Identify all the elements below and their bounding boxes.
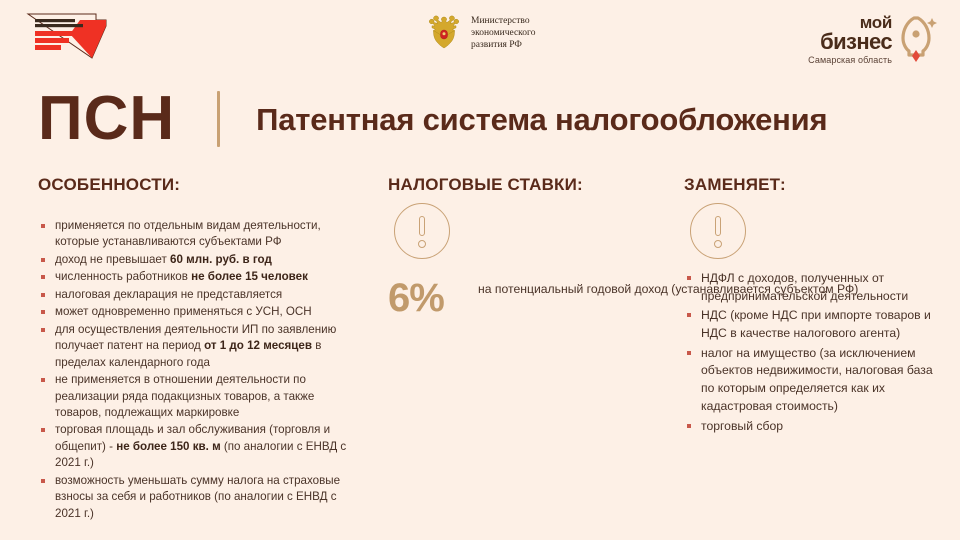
title-divider — [217, 91, 220, 147]
national-projects-logo-icon — [26, 12, 118, 64]
exclamation-dot — [418, 240, 426, 248]
features-list: применяется по отдельным видам деятельно… — [38, 218, 358, 523]
list-item-text: налоговая декларация не представляется — [55, 288, 282, 301]
list-item: НДС (кроме НДС при импорте товаров и НДС… — [684, 307, 934, 342]
list-item-text: численность работников — [55, 270, 191, 283]
exclamation-bar — [715, 216, 721, 236]
tax-rate-value: 6% — [388, 278, 478, 318]
title-abbreviation: ПСН — [38, 88, 175, 150]
list-item-text: налог на имущество (за исключением объек… — [701, 346, 933, 413]
list-item-emphasis: от 1 до 12 месяцев — [204, 339, 312, 352]
exclamation-circle-icon — [394, 203, 450, 259]
exclamation-bar — [419, 216, 425, 236]
ministry-name: Министерство экономического развития РФ — [471, 15, 535, 51]
exclamation-dot — [714, 240, 722, 248]
my-business-region: Самарская область — [808, 55, 892, 65]
list-item-text: может одновременно применяться с УСН, ОС… — [55, 305, 312, 318]
my-business-logo: мой бизнес Самарская область — [808, 12, 938, 65]
replaces-heading: ЗАМЕНЯЕТ: — [684, 175, 786, 195]
my-business-word-main: бизнес — [808, 30, 892, 53]
list-item: может одновременно применяться с УСН, ОС… — [38, 304, 358, 320]
features-heading: ОСОБЕННОСТИ: — [38, 175, 180, 195]
national-projects-logo — [26, 12, 118, 64]
list-item-text: возможность уменьшать сумму налога на ст… — [55, 474, 340, 520]
list-item-text: НДФЛ с доходов, полученных от предприним… — [701, 271, 908, 303]
list-item: торговый сбор — [684, 418, 934, 436]
page-title: ПСН Патентная система налогообложения — [38, 84, 827, 154]
title-full: Патентная система налогообложения — [256, 104, 827, 135]
slide-root: Министерство экономического развития РФ … — [0, 0, 960, 540]
list-item-text: доход не превышает — [55, 253, 170, 266]
list-item-text: НДС (кроме НДС при импорте товаров и НДС… — [701, 308, 931, 340]
list-item: налог на имущество (за исключением объек… — [684, 345, 934, 416]
list-item: налоговая декларация не представляется — [38, 287, 358, 303]
list-item-text: не применяется в отношении деятельности … — [55, 373, 314, 419]
list-item: применяется по отдельным видам деятельно… — [38, 218, 358, 251]
list-item: торговая площадь и зал обслуживания (тор… — [38, 422, 358, 471]
russian-coat-of-arms-icon — [424, 13, 464, 53]
my-business-wordmark: мой бизнес Самарская область — [808, 12, 892, 65]
rates-heading: НАЛОГОВЫЕ СТАВКИ: — [388, 175, 583, 195]
list-item-text: торговый сбор — [701, 419, 783, 433]
list-item: доход не превышает 60 млн. руб. в год — [38, 252, 358, 268]
list-item: для осуществления деятельности ИП по зая… — [38, 322, 358, 371]
exclamation-circle-icon — [690, 203, 746, 259]
list-item-text: применяется по отдельным видам деятельно… — [55, 219, 321, 248]
ministry-logo: Министерство экономического развития РФ — [424, 13, 535, 53]
list-item-emphasis: не более 150 кв. м — [116, 440, 220, 453]
list-item: НДФЛ с доходов, полученных от предприним… — [684, 270, 934, 305]
list-item: не применяется в отношении деятельности … — [38, 372, 358, 421]
list-item-emphasis: 60 млн. руб. в год — [170, 253, 272, 266]
rocket-icon — [898, 12, 938, 64]
list-item: численность работников не более 15 челов… — [38, 269, 358, 285]
replaces-list: НДФЛ с доходов, полученных от предприним… — [684, 270, 934, 437]
list-item-emphasis: не более 15 человек — [191, 270, 308, 283]
list-item: возможность уменьшать сумму налога на ст… — [38, 473, 358, 522]
